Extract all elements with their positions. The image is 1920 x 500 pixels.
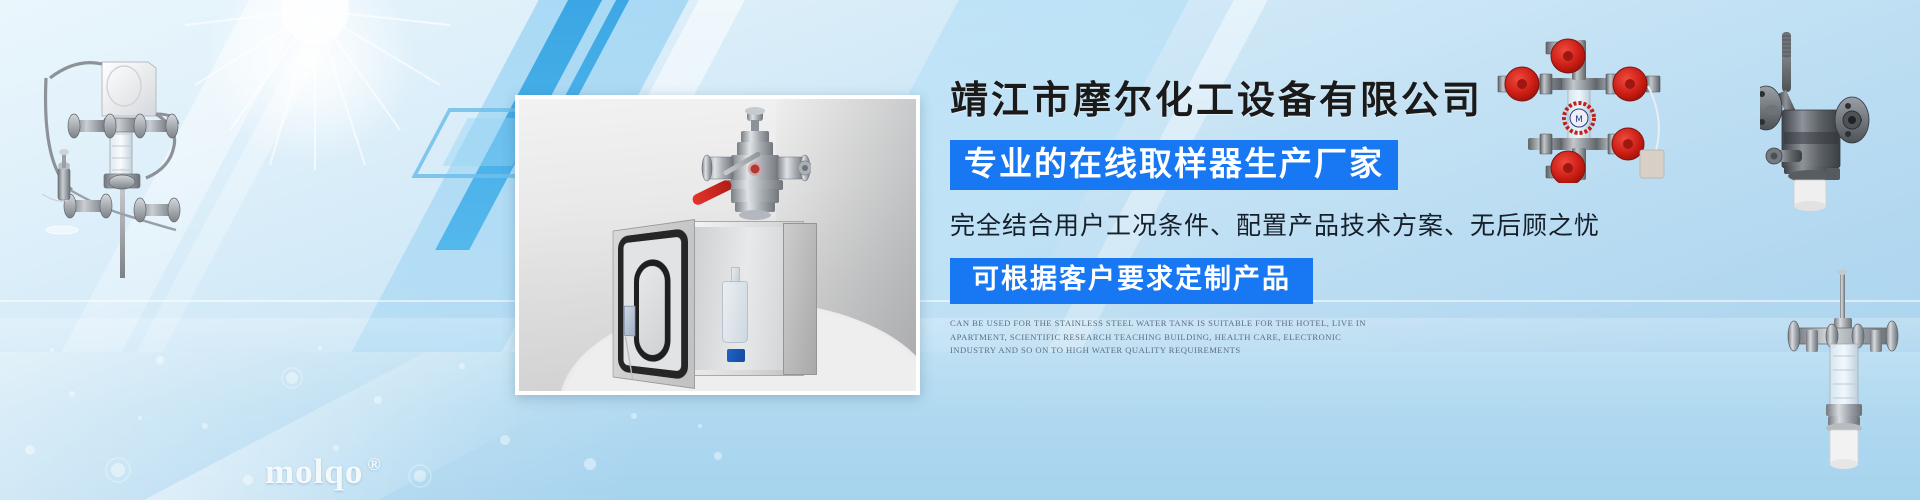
cabinet-door: [613, 219, 695, 389]
watermark-text: molqo: [265, 452, 363, 491]
sun-rays-icon: [175, 0, 455, 210]
registered-trademark-icon: ®: [367, 454, 381, 474]
product-lever-handle-valve: [1760, 20, 1920, 215]
primary-tagline-badge: 专业的在线取样器生产厂家: [950, 140, 1398, 191]
product-sampler-on-pole: [6, 18, 216, 278]
promo-banner: M: [0, 0, 1920, 500]
feature-line: 完全结合用户工况条件、配置产品技术方案、无后顾之忧: [950, 206, 1690, 242]
secondary-tagline-badge: 可根据客户要求定制产品: [950, 258, 1313, 304]
sample-bottle: [722, 281, 748, 343]
watermark-logo: molqo®: [265, 452, 382, 492]
bottle-cap: [727, 349, 745, 362]
product-photo-online-sampler-cabinet: [519, 99, 916, 391]
english-description: CAN BE USED FOR THE STAINLESS STEEL WATE…: [950, 317, 1390, 357]
sampling-valve-head: [701, 107, 811, 227]
product-compact-sampling-valve: [1770, 270, 1920, 485]
company-name: 靖江市摩尔化工设备有限公司: [950, 78, 1690, 126]
product-photo-frame: [515, 95, 920, 395]
banner-text-block: 靖江市摩尔化工设备有限公司 专业的在线取样器生产厂家 完全结合用户工况条件、配置…: [950, 78, 1690, 357]
cabinet-side-panel: [783, 223, 817, 375]
sun-glow: [190, 0, 430, 180]
door-window: [634, 258, 671, 364]
door-latch: [624, 306, 635, 337]
